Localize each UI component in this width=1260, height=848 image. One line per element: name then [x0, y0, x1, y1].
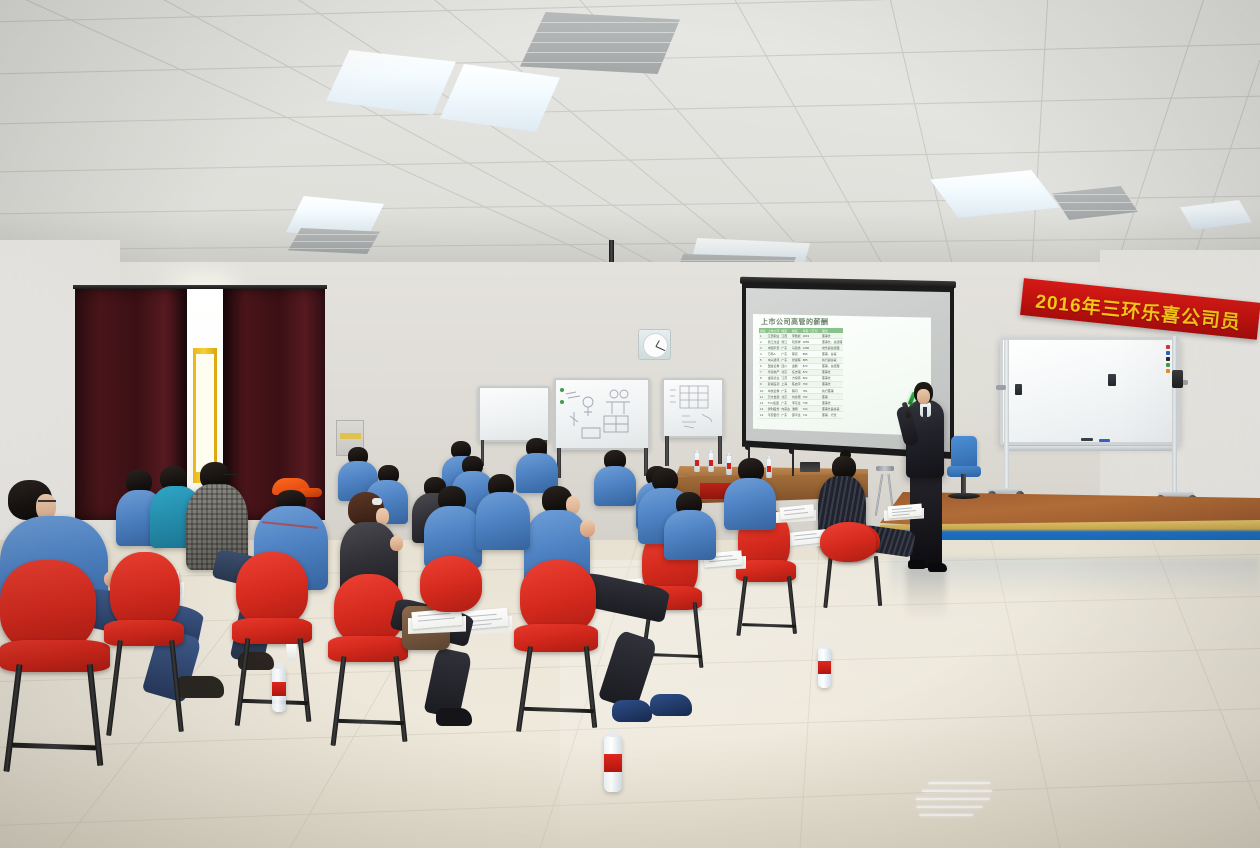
slide-table-cell: 711: [802, 412, 821, 418]
chair-back[interactable]: [0, 560, 96, 652]
magnet-black: [1166, 357, 1170, 361]
attendee-hand: [390, 536, 403, 551]
table-microphone-stand: [792, 452, 794, 476]
office-chair-back[interactable]: [951, 436, 977, 470]
floor-water-bottle[interactable]: [272, 668, 286, 712]
magnet-orange: [1166, 369, 1170, 373]
office-chair-base: [948, 493, 980, 499]
presenter-face: [917, 389, 930, 404]
slide-table-cell: 14: [759, 412, 767, 418]
water-bottle[interactable]: [694, 452, 700, 472]
ceiling-light-reflection: [907, 780, 1019, 822]
tripod-head: [876, 466, 894, 471]
attendee-glasses-icon: [224, 474, 238, 478]
whiteboard-mobile-large: [1000, 337, 1180, 445]
whiteboard-right-leg: [665, 436, 669, 466]
slide-table-cell: 邵平生: [791, 412, 802, 418]
slide-table: 排名上市公司地区姓名年薪（万元）职位 1江西铜业江西李贻武2019董事长2浙江龙…: [759, 328, 843, 419]
magnet-red: [1166, 345, 1170, 349]
slide-table-cell: 广东: [780, 412, 791, 418]
attendee-hand: [580, 520, 595, 537]
attendee-hair-tie: [372, 498, 382, 505]
whiteboard-left: [478, 386, 550, 442]
slide-table-col-header: 年薪（万元）: [802, 328, 821, 333]
chair-back[interactable]: [820, 522, 876, 562]
presenter-legs: [910, 472, 942, 568]
attendee-torso: [476, 492, 530, 550]
bottle-cap: [821, 643, 828, 649]
table-microphone-head: [789, 447, 794, 454]
slide-table-body: 1江西铜业江西李贻武2019董事长2浙江龙盛浙江阮伟祥1865董事长、总经理3中…: [759, 333, 843, 418]
curtain-rod: [73, 285, 327, 289]
attendee-sneaker: [650, 694, 692, 716]
water-bottle[interactable]: [766, 458, 772, 478]
window-glass: [196, 354, 214, 472]
water-bottle[interactable]: [726, 455, 732, 475]
floor-water-bottle[interactable]: [604, 736, 622, 792]
bottle-label: [604, 754, 622, 772]
chair-back[interactable]: [110, 552, 180, 630]
whiteboard-stand-post: [1172, 336, 1177, 494]
whiteboard-marker[interactable]: [1081, 438, 1093, 441]
whiteboard-eraser[interactable]: [1015, 384, 1022, 395]
bottle-label: [818, 661, 831, 674]
slide-title: 上市公司高管的薪酬: [761, 317, 829, 327]
water-bottle[interactable]: [708, 452, 714, 472]
ceiling-air-vent: [520, 12, 680, 74]
presenter-tie: [923, 407, 927, 421]
slide-table-col-header: 排名: [759, 328, 767, 333]
whiteboard-right-leg: [718, 436, 722, 464]
floor-reflection-stage: [890, 558, 1260, 598]
bottle-cap: [608, 729, 618, 737]
slide-table-col-header: 上市公司: [767, 328, 781, 333]
slide-table-cell: 董事、行长: [821, 412, 843, 418]
attendee-glasses-icon: [38, 500, 56, 505]
photo-scene: 2016年三环乐喜公司员 上市公司高管的薪酬 排名上市公司地区姓名年薪（万元）职…: [0, 0, 1260, 848]
bottle-label: [272, 682, 286, 696]
magnet-green: [1166, 363, 1170, 367]
whiteboard-center-diagram: [558, 382, 646, 446]
presenter-shoe: [928, 563, 947, 572]
whiteboard-pivot-knob[interactable]: [996, 385, 1006, 390]
whiteboard-stand-post: [1004, 340, 1009, 492]
chair-back[interactable]: [520, 560, 596, 634]
clock-minute-hand: [655, 346, 665, 351]
clock-face: [643, 333, 668, 358]
presenter-shoe: [908, 560, 926, 569]
attendee-shoe: [436, 708, 472, 726]
attendee-torso: [594, 466, 636, 506]
chair-back[interactable]: [236, 552, 308, 626]
whiteboard-right-grid: [666, 382, 720, 434]
attendee-torso: [664, 510, 716, 560]
magnet-blue: [1166, 351, 1170, 355]
slide-table-row: 14平安银行广东邵平生711董事、行长: [759, 412, 843, 418]
whiteboard-eraser[interactable]: [1108, 374, 1116, 386]
floor-water-bottle[interactable]: [818, 648, 831, 688]
attendee-sneaker: [612, 700, 652, 722]
attendee-torso: [724, 478, 776, 530]
bottle-cap: [275, 663, 283, 669]
chair-back[interactable]: [420, 556, 482, 612]
slide-table-cell: 平安银行: [767, 412, 781, 418]
whiteboard-marker[interactable]: [1099, 439, 1110, 442]
wall-clock: [638, 329, 671, 360]
wall-speaker: [1172, 370, 1183, 388]
table-microphone-head: [745, 443, 750, 450]
attendee-shoe: [176, 676, 224, 698]
whiteboard-marker-tray: [1005, 446, 1177, 451]
table-laptop: [800, 462, 820, 472]
